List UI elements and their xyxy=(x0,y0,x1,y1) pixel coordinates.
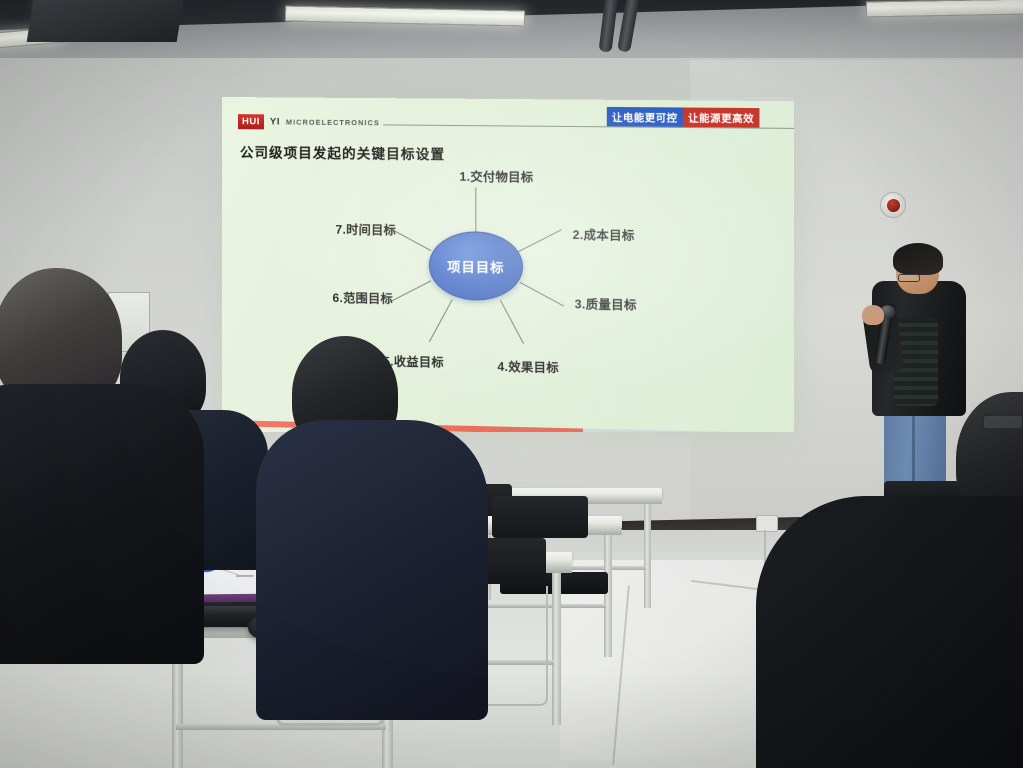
node-7-time-goal: 7.时间目标 xyxy=(335,221,396,239)
tagline-red: 让能源更高效 xyxy=(683,107,760,127)
ceiling-light-3 xyxy=(866,0,1023,17)
ceiling-vent xyxy=(27,0,184,42)
spoke-1 xyxy=(475,187,476,232)
tagline-blue: 让电能更可控 xyxy=(607,107,683,127)
photo-scene: HUI YI MICROELECTRONICS 让电能更可控 让能源更高效 公司… xyxy=(0,0,1023,768)
node-1-delivery-goal: 1.交付物目标 xyxy=(459,168,533,186)
slide-footer-bar-blue xyxy=(583,429,794,432)
smoke-alarm-icon xyxy=(880,192,906,218)
torso xyxy=(0,384,204,664)
spoke-2 xyxy=(518,229,562,252)
diagram-hub: 项目目标 xyxy=(429,231,523,301)
hub-label: 项目目标 xyxy=(447,256,504,276)
spoke-5 xyxy=(429,299,453,342)
slide-title: 公司级项目发起的关键目标设置 xyxy=(240,141,445,163)
node-2-cost-goal: 2.成本目标 xyxy=(573,226,635,244)
node-3-quality-goal: 3.质量目标 xyxy=(575,295,637,313)
torso xyxy=(256,420,488,720)
glasses-icon xyxy=(982,414,1023,430)
torso xyxy=(756,496,1023,768)
node-4-effect-goal: 4.效果目标 xyxy=(497,358,559,377)
logo-mark: HUI xyxy=(238,114,264,129)
brand-tagline: 让电能更可控 让能源更高效 xyxy=(607,107,760,128)
brand-logo: HUI YI MICROELECTRONICS xyxy=(238,114,380,130)
chair-row-2 xyxy=(492,496,588,538)
node-6-scope-goal: 6.范围目标 xyxy=(332,289,393,307)
spoke-6 xyxy=(388,280,432,303)
glasses-icon xyxy=(898,274,920,282)
presenter-hand xyxy=(862,305,884,325)
spoke-4 xyxy=(500,300,524,344)
logo-word: YI xyxy=(270,116,280,127)
spoke-3 xyxy=(520,282,564,307)
logo-subtitle: MICROELECTRONICS xyxy=(286,117,380,127)
presenter-hair xyxy=(893,243,943,275)
